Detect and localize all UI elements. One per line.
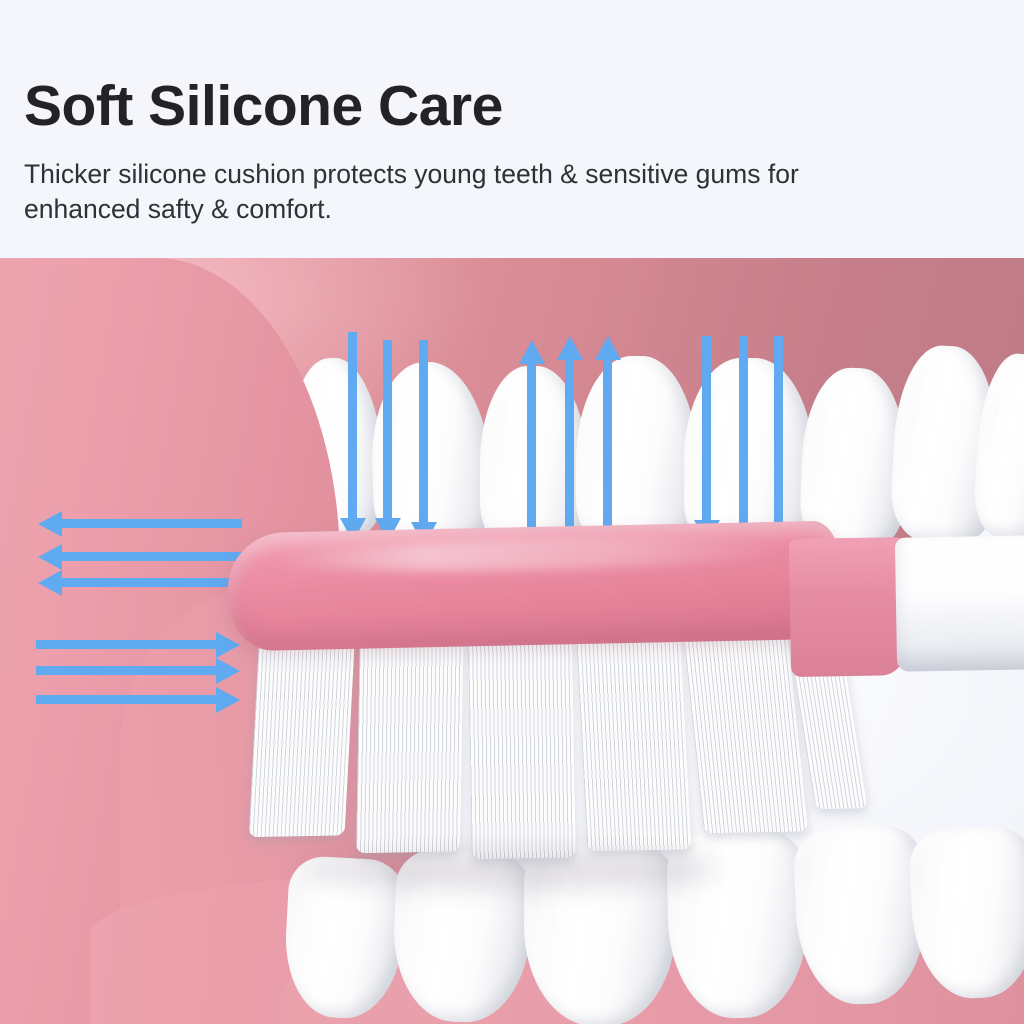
page-subtitle: Thicker silicone cushion protects young …	[24, 157, 804, 227]
arrow-up-icon	[603, 358, 612, 544]
upper-tooth	[576, 356, 698, 552]
page-title: Soft Silicone Care	[24, 78, 503, 135]
arrow-down-icon	[383, 340, 392, 520]
bristle-tufts	[244, 631, 848, 871]
arrow-down-icon	[702, 336, 711, 522]
arrow-down-icon	[419, 340, 428, 524]
brush-shadow	[300, 850, 720, 890]
bristle-tuft	[249, 639, 355, 837]
product-infographic: Soft Silicone Care Thicker silicone cush…	[0, 0, 1024, 1024]
brush-neck	[789, 537, 911, 677]
arrow-right-icon	[36, 640, 218, 649]
arrow-left-icon	[60, 552, 242, 561]
arrow-right-icon	[36, 666, 218, 675]
arrow-down-icon	[774, 336, 783, 528]
arrow-right-icon	[36, 695, 218, 704]
arrow-up-icon	[565, 358, 574, 544]
bristle-tuft	[468, 636, 576, 860]
bristle-tuft	[683, 632, 808, 833]
arrow-left-icon	[60, 519, 242, 528]
arrow-down-icon	[739, 336, 748, 526]
arrow-down-icon	[348, 332, 357, 520]
arrow-left-icon	[60, 578, 242, 587]
illustration-scene	[0, 258, 1024, 1024]
brush-handle	[895, 534, 1024, 671]
arrow-up-icon	[527, 362, 536, 542]
header-panel: Soft Silicone Care Thicker silicone cush…	[0, 0, 1024, 258]
bristle-tuft	[356, 637, 464, 853]
bristle-tuft	[576, 634, 691, 852]
